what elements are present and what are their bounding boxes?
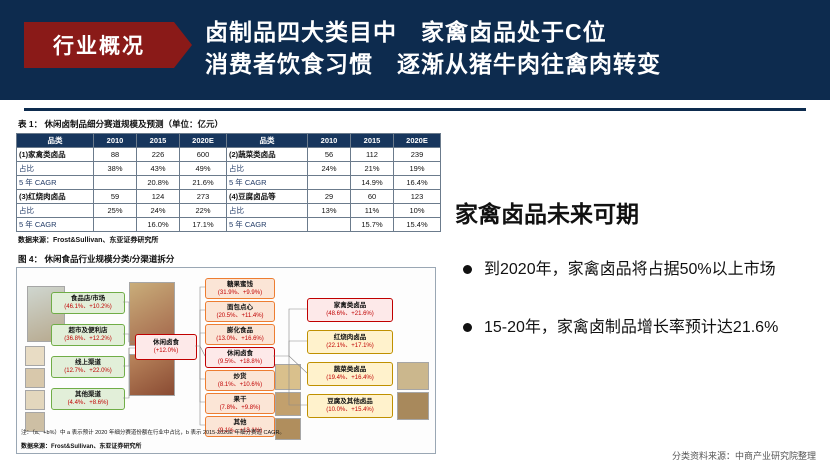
cell: 24% — [137, 204, 180, 218]
cell — [94, 218, 137, 232]
cell: (4)豆腐卤品等 — [227, 190, 308, 204]
table-header-row: 品类 2010 2015 2020E 品类 2010 2015 2020E — [17, 134, 441, 148]
cell: 600 — [180, 148, 227, 162]
page-title-line1: 卤制品四大类目中 家禽卤品处于C位 — [205, 16, 815, 48]
cell: 49% — [180, 162, 227, 176]
cell: 16.4% — [394, 176, 441, 190]
product-photo-icon — [397, 362, 429, 390]
cell: 21% — [351, 162, 394, 176]
cell: 占比 — [227, 204, 308, 218]
cell: 5 年 CAGR — [17, 176, 94, 190]
figure-node-category-highlight: 休闲卤食 (9.5%、+18.8%) — [205, 347, 275, 368]
table-row: (1)家禽类卤品 88 226 600 (2)蔬菜类卤品 56 112 239 — [17, 148, 441, 162]
list-item: 到2020年，家禽卤品将占据50%以上市场 — [455, 259, 815, 281]
product-photo-icon — [275, 364, 301, 390]
cell: 59 — [94, 190, 137, 204]
figure-node-channel: 超市及便利店 (36.8%、+12.2%) — [51, 324, 125, 346]
footer-source: 分类资料来源：中商产业研究院整理 — [672, 449, 816, 462]
col-header-2020e-left: 2020E — [180, 134, 227, 148]
cell — [308, 218, 351, 232]
header-divider — [24, 108, 806, 111]
right-heading: 家禽卤品未来可期 — [455, 195, 815, 229]
cell — [94, 176, 137, 190]
cell: 占比 — [227, 162, 308, 176]
bullet-text: 到2020年，家禽卤品将占据50%以上市场 — [484, 259, 776, 281]
segment-table: 品类 2010 2015 2020E 品类 2010 2015 2020E (1… — [16, 133, 441, 232]
cell: 22% — [180, 204, 227, 218]
figure-node-channel: 其他渠道 (4.4%、+8.6%) — [51, 388, 125, 410]
cell: 5 年 CAGR — [227, 218, 308, 232]
figure-container: 食品店/市场 (46.1%、+10.2%) 超市及便利店 (36.8%、+12.… — [16, 267, 436, 454]
cell: 5 年 CAGR — [227, 176, 308, 190]
cell: 21.6% — [180, 176, 227, 190]
figure-source: 数据来源：Frost&Sullivan、东亚证券研究所 — [21, 441, 141, 450]
figure-node-category: 面包点心 (20.5%、+11.4%) — [205, 301, 275, 322]
table-row: 占比 38% 43% 49% 占比 24% 21% 19% — [17, 162, 441, 176]
figure-node-subcategory: 家禽类卤品 (48.6%、+21.6%) — [307, 298, 393, 322]
cell: 5 年 CAGR — [17, 218, 94, 232]
cell: 17.1% — [180, 218, 227, 232]
figure-node-category: 炒货 (8.1%、+10.6%) — [205, 370, 275, 391]
product-photo-icon — [129, 354, 175, 396]
col-header-2015-right: 2015 — [351, 134, 394, 148]
figure-node-center: 休闲卤食 (+12.0%) — [135, 334, 197, 360]
list-item: 15-20年，家禽卤制品增长率预计达21.6% — [455, 317, 815, 339]
table-row: 5 年 CAGR 16.0% 17.1% 5 年 CAGR 15.7% 15.4… — [17, 218, 441, 232]
cell: 15.4% — [394, 218, 441, 232]
cell: 15.7% — [351, 218, 394, 232]
cell: (2)蔬菜类卤品 — [227, 148, 308, 162]
cell: 16.0% — [137, 218, 180, 232]
cell: 占比 — [17, 162, 94, 176]
product-photo-icon — [397, 392, 429, 420]
cell: 20.8% — [137, 176, 180, 190]
product-photo-icon — [25, 412, 45, 432]
cell: 123 — [394, 190, 441, 204]
col-header-category-left: 品类 — [17, 134, 94, 148]
figure-node-category: 果干 (7.8%、+9.8%) — [205, 393, 275, 414]
col-header-2010-left: 2010 — [94, 134, 137, 148]
page-title-line2: 消费者饮食习惯 逐渐从猪牛肉往禽肉转变 — [205, 48, 815, 80]
cell: 19% — [394, 162, 441, 176]
product-photo-icon — [275, 392, 301, 416]
cell: 14.9% — [351, 176, 394, 190]
right-content-column: 家禽卤品未来可期 到2020年，家禽卤品将占据50%以上市场 15-20年，家禽… — [455, 195, 815, 375]
figure-node-subcategory: 蔬菜类卤品 (19.4%、+16.4%) — [307, 362, 393, 386]
figure-node-channel: 食品店/市场 (46.1%、+10.2%) — [51, 292, 125, 314]
col-header-2020e-right: 2020E — [394, 134, 441, 148]
table-row: (3)红烧肉卤品 59 124 273 (4)豆腐卤品等 29 60 123 — [17, 190, 441, 204]
figure-node-category: 膨化食品 (13.0%、+16.6%) — [205, 324, 275, 345]
cell: 273 — [180, 190, 227, 204]
figure-node-category: 糖果蜜饯 (31.9%、+9.9%) — [205, 278, 275, 299]
header-tag: 行业概况 — [24, 22, 174, 68]
cell: (1)家禽类卤品 — [17, 148, 94, 162]
cell: 56 — [308, 148, 351, 162]
bullet-dot-icon — [463, 265, 472, 274]
table-source: 数据来源：Frost&Sullivan、东亚证券研究所 — [18, 235, 436, 245]
cell: 124 — [137, 190, 180, 204]
cell: (3)红烧肉卤品 — [17, 190, 94, 204]
cell: 24% — [308, 162, 351, 176]
cell: 88 — [94, 148, 137, 162]
cell: 13% — [308, 204, 351, 218]
cell: 38% — [94, 162, 137, 176]
figure-node-subcategory: 豆腐及其他卤品 (10.0%、+15.4%) — [307, 394, 393, 418]
header-tag-arrow-icon — [174, 22, 192, 68]
product-photo-icon — [25, 346, 45, 366]
cell: 239 — [394, 148, 441, 162]
cell: 112 — [351, 148, 394, 162]
cell: 10% — [394, 204, 441, 218]
cell: 29 — [308, 190, 351, 204]
table-row: 5 年 CAGR 20.8% 21.6% 5 年 CAGR 14.9% 16.4… — [17, 176, 441, 190]
cell — [308, 176, 351, 190]
col-header-2010-right: 2010 — [308, 134, 351, 148]
product-photo-icon — [25, 368, 45, 388]
bullet-text: 15-20年，家禽卤制品增长率预计达21.6% — [484, 317, 778, 339]
cell: 43% — [137, 162, 180, 176]
cell: 60 — [351, 190, 394, 204]
figure-note: 注：（a、+b%）中 a 表示预计 2020 年细分赛道份额在行业中占比，b 表… — [21, 430, 421, 437]
figure-node-subcategory: 红烧肉卤品 (22.1%、+17.1%) — [307, 330, 393, 354]
cell: 11% — [351, 204, 394, 218]
cell: 占比 — [17, 204, 94, 218]
left-content-column: 表 1： 休闲卤制品细分赛道规模及预测（单位：亿元） 品类 2010 2015 … — [16, 118, 436, 458]
cell: 25% — [94, 204, 137, 218]
cell: 226 — [137, 148, 180, 162]
product-photo-icon — [25, 390, 45, 410]
figure-node-channel: 线上渠道 (12.7%、+22.0%) — [51, 356, 125, 378]
page-title: 卤制品四大类目中 家禽卤品处于C位 消费者饮食习惯 逐渐从猪牛肉往禽肉转变 — [205, 16, 815, 80]
bullet-dot-icon — [463, 323, 472, 332]
figure-caption: 图 4： 休闲食品行业规模分类/分渠道拆分 — [18, 253, 436, 265]
table-caption: 表 1： 休闲卤制品细分赛道规模及预测（单位：亿元） — [18, 118, 436, 130]
col-header-2015-left: 2015 — [137, 134, 180, 148]
slide-header: 行业概况 卤制品四大类目中 家禽卤品处于C位 消费者饮食习惯 逐渐从猪牛肉往禽肉… — [0, 0, 830, 100]
table-row: 占比 25% 24% 22% 占比 13% 11% 10% — [17, 204, 441, 218]
col-header-category-right: 品类 — [227, 134, 308, 148]
